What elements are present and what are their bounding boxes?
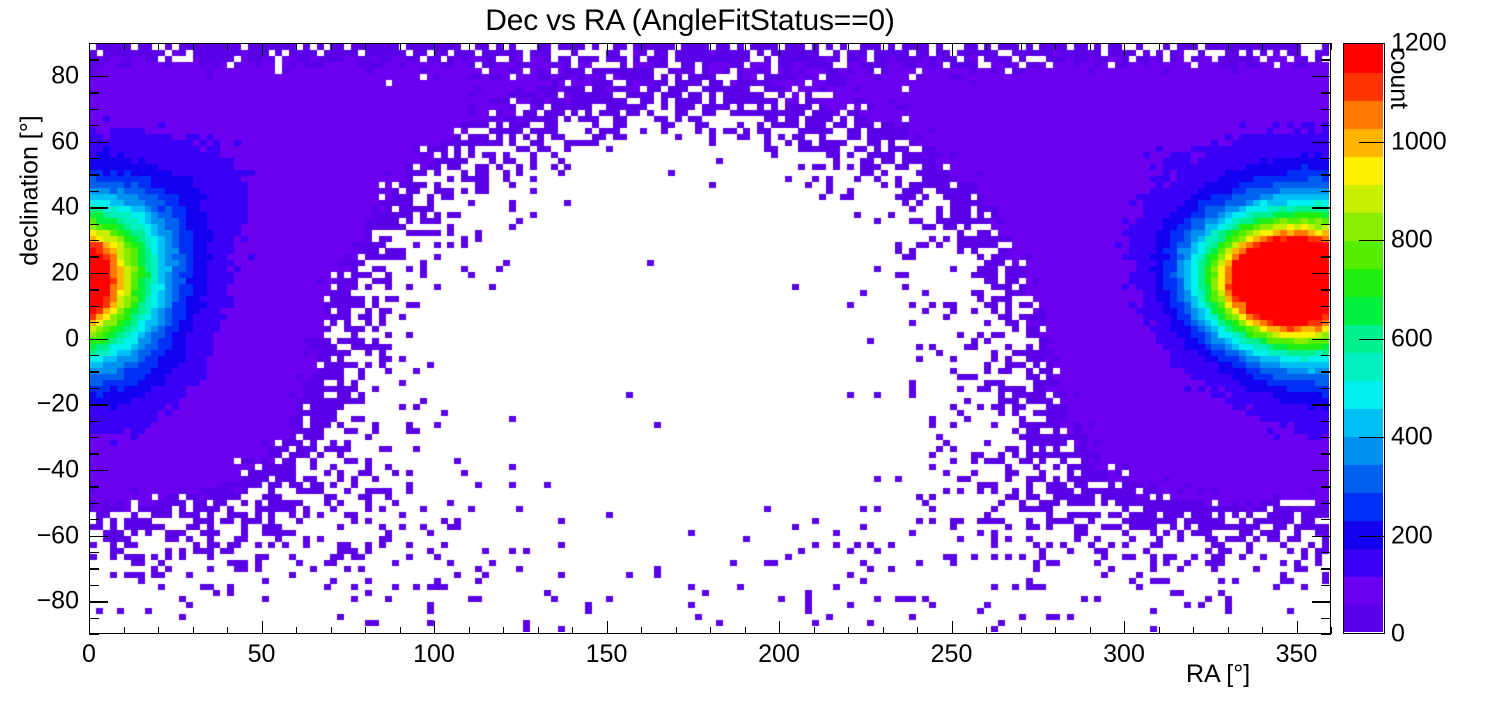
y-tick-right <box>1321 519 1331 520</box>
x-tick <box>1159 627 1160 634</box>
page-title: Dec vs RA (AngleFitStatus==0) <box>0 4 1380 38</box>
y-tick <box>89 142 108 143</box>
x-tick <box>124 627 125 634</box>
y-tick-right <box>1321 634 1331 635</box>
x-tick-top <box>710 43 711 50</box>
y-tick-right <box>1321 355 1331 356</box>
x-tick-top <box>572 43 573 50</box>
x-tick <box>1090 627 1091 634</box>
y-tick <box>89 191 99 192</box>
y-tick-right <box>1321 224 1331 225</box>
x-tick <box>1262 627 1263 634</box>
x-tick-top <box>848 43 849 50</box>
y-tick-right <box>1321 191 1331 192</box>
y-tick-right <box>1321 289 1331 290</box>
y-tick-right <box>1312 601 1331 602</box>
z-tick <box>1359 437 1385 438</box>
y-tick <box>89 601 108 602</box>
y-tick-label: −60 <box>0 521 79 550</box>
x-tick-top <box>676 43 677 50</box>
x-tick-label: 250 <box>931 640 973 669</box>
z-axis-title: count <box>1384 48 1413 109</box>
y-tick <box>89 289 99 290</box>
x-axis-title: RA [°] <box>1186 660 1250 689</box>
y-tick <box>89 470 108 471</box>
x-tick-top <box>641 43 642 50</box>
z-tick-label: 0 <box>1391 620 1405 649</box>
y-tick-right <box>1312 470 1331 471</box>
x-tick <box>400 627 401 634</box>
y-tick-right <box>1321 125 1331 126</box>
y-tick <box>89 371 99 372</box>
x-tick <box>1297 621 1298 634</box>
y-tick-right <box>1321 437 1331 438</box>
z-tick-label: 200 <box>1391 521 1433 550</box>
y-tick-label: −20 <box>0 390 79 419</box>
y-tick-right <box>1321 585 1331 586</box>
x-tick-label: 50 <box>248 640 276 669</box>
x-tick <box>262 621 263 634</box>
plot-frame <box>89 43 1331 634</box>
y-tick-right <box>1312 207 1331 208</box>
y-tick <box>89 618 99 619</box>
x-tick <box>745 627 746 634</box>
x-tick-top <box>193 43 194 50</box>
y-tick-right <box>1321 421 1331 422</box>
x-tick-label: 200 <box>758 640 800 669</box>
z-tick-label: 1000 <box>1391 127 1447 156</box>
x-tick <box>1124 621 1125 634</box>
z-tick <box>1359 536 1385 537</box>
y-tick-right <box>1321 618 1331 619</box>
y-tick <box>89 453 99 454</box>
x-tick <box>331 627 332 634</box>
y-tick <box>89 486 99 487</box>
y-tick-right <box>1321 371 1331 372</box>
y-tick-right <box>1312 273 1331 274</box>
x-tick <box>779 621 780 634</box>
y-tick <box>89 76 108 77</box>
y-tick <box>89 503 99 504</box>
y-tick <box>89 322 99 323</box>
x-tick-label: 100 <box>413 640 455 669</box>
y-tick <box>89 125 99 126</box>
x-tick-top <box>262 43 263 56</box>
y-tick <box>89 568 99 569</box>
x-tick <box>1331 627 1332 634</box>
y-tick <box>89 256 99 257</box>
y-tick-right <box>1321 453 1331 454</box>
x-tick-top <box>124 43 125 50</box>
x-tick-top <box>503 43 504 50</box>
x-tick-top <box>607 43 608 56</box>
y-tick-label: −80 <box>0 587 79 616</box>
y-tick-right <box>1321 486 1331 487</box>
x-tick-top <box>1124 43 1125 56</box>
y-tick-label: 0 <box>0 324 79 353</box>
z-tick-label: 800 <box>1391 226 1433 255</box>
x-tick-top <box>814 43 815 50</box>
x-tick-top <box>434 43 435 56</box>
z-tick-label: 600 <box>1391 324 1433 353</box>
y-tick-right <box>1321 240 1331 241</box>
x-tick <box>434 621 435 634</box>
y-tick <box>89 158 99 159</box>
y-axis-title: declination [°] <box>16 91 45 291</box>
x-tick-top <box>89 43 90 56</box>
x-tick <box>1193 627 1194 634</box>
x-tick-top <box>1297 43 1298 56</box>
y-tick-right <box>1321 59 1331 60</box>
y-tick <box>89 92 99 93</box>
x-tick <box>917 627 918 634</box>
y-tick <box>89 109 99 110</box>
x-tick <box>572 627 573 634</box>
x-tick <box>986 627 987 634</box>
y-tick-right <box>1321 43 1331 44</box>
x-tick-top <box>745 43 746 50</box>
x-tick-top <box>331 43 332 50</box>
x-tick-top <box>986 43 987 50</box>
x-tick <box>1228 627 1229 634</box>
y-tick <box>89 339 108 340</box>
x-tick-label: 350 <box>1276 640 1318 669</box>
y-tick-right <box>1321 174 1331 175</box>
x-tick-top <box>1021 43 1022 50</box>
x-tick <box>607 621 608 634</box>
y-tick <box>89 355 99 356</box>
x-tick-label: 300 <box>1103 640 1145 669</box>
x-tick-top <box>400 43 401 50</box>
y-tick <box>89 207 108 208</box>
y-tick-right <box>1321 322 1331 323</box>
y-tick-right <box>1321 568 1331 569</box>
x-tick-top <box>1055 43 1056 50</box>
x-tick <box>227 627 228 634</box>
y-tick <box>89 437 99 438</box>
x-tick-top <box>158 43 159 50</box>
y-tick-right <box>1321 92 1331 93</box>
x-tick <box>883 627 884 634</box>
y-tick-right <box>1321 256 1331 257</box>
y-tick-right <box>1321 552 1331 553</box>
x-tick <box>296 627 297 634</box>
x-tick-top <box>883 43 884 50</box>
x-tick <box>193 627 194 634</box>
y-tick-right <box>1312 76 1331 77</box>
y-tick-right <box>1312 536 1331 537</box>
histogram-canvas <box>90 44 1329 632</box>
x-tick-top <box>1262 43 1263 50</box>
y-tick <box>89 43 99 44</box>
z-tick-label: 400 <box>1391 423 1433 452</box>
x-tick <box>1021 627 1022 634</box>
z-tick <box>1359 142 1385 143</box>
y-tick <box>89 59 99 60</box>
chart-root: Dec vs RA (AngleFitStatus==0) 0501001502… <box>0 0 1496 722</box>
y-tick-right <box>1312 142 1331 143</box>
y-tick <box>89 174 99 175</box>
x-tick <box>158 627 159 634</box>
x-tick <box>814 627 815 634</box>
x-tick <box>365 627 366 634</box>
x-tick <box>1055 627 1056 634</box>
z-tick <box>1359 339 1385 340</box>
x-tick-top <box>1090 43 1091 50</box>
y-tick <box>89 421 99 422</box>
z-tick <box>1359 43 1385 44</box>
y-tick <box>89 536 108 537</box>
x-tick-top <box>469 43 470 50</box>
y-tick-right <box>1321 158 1331 159</box>
y-tick <box>89 273 108 274</box>
y-tick <box>89 388 99 389</box>
x-tick <box>676 627 677 634</box>
x-tick-top <box>952 43 953 56</box>
y-tick <box>89 224 99 225</box>
y-tick-right <box>1321 109 1331 110</box>
x-tick-top <box>779 43 780 56</box>
x-tick <box>89 621 90 634</box>
x-tick <box>641 627 642 634</box>
z-tick <box>1359 240 1385 241</box>
y-tick <box>89 240 99 241</box>
y-tick <box>89 404 108 405</box>
x-tick <box>848 627 849 634</box>
x-tick-label: 0 <box>82 640 96 669</box>
x-tick <box>503 627 504 634</box>
x-tick-top <box>296 43 297 50</box>
x-tick-top <box>1193 43 1194 50</box>
y-tick-right <box>1312 404 1331 405</box>
x-tick-top <box>1228 43 1229 50</box>
y-tick-right <box>1321 388 1331 389</box>
x-tick-top <box>917 43 918 50</box>
y-tick-right <box>1312 339 1331 340</box>
x-tick-top <box>1331 43 1332 50</box>
y-tick <box>89 519 99 520</box>
y-tick-right <box>1321 306 1331 307</box>
y-tick <box>89 306 99 307</box>
x-tick <box>952 621 953 634</box>
x-tick-top <box>538 43 539 50</box>
y-tick-right <box>1321 503 1331 504</box>
y-tick-label: 80 <box>0 61 79 90</box>
x-tick <box>469 627 470 634</box>
y-tick-label: −40 <box>0 455 79 484</box>
y-tick <box>89 552 99 553</box>
x-tick-label: 150 <box>586 640 628 669</box>
y-tick <box>89 634 99 635</box>
x-tick-top <box>1159 43 1160 50</box>
x-tick <box>538 627 539 634</box>
x-tick-top <box>365 43 366 50</box>
x-tick <box>710 627 711 634</box>
y-tick <box>89 585 99 586</box>
x-tick-top <box>227 43 228 50</box>
